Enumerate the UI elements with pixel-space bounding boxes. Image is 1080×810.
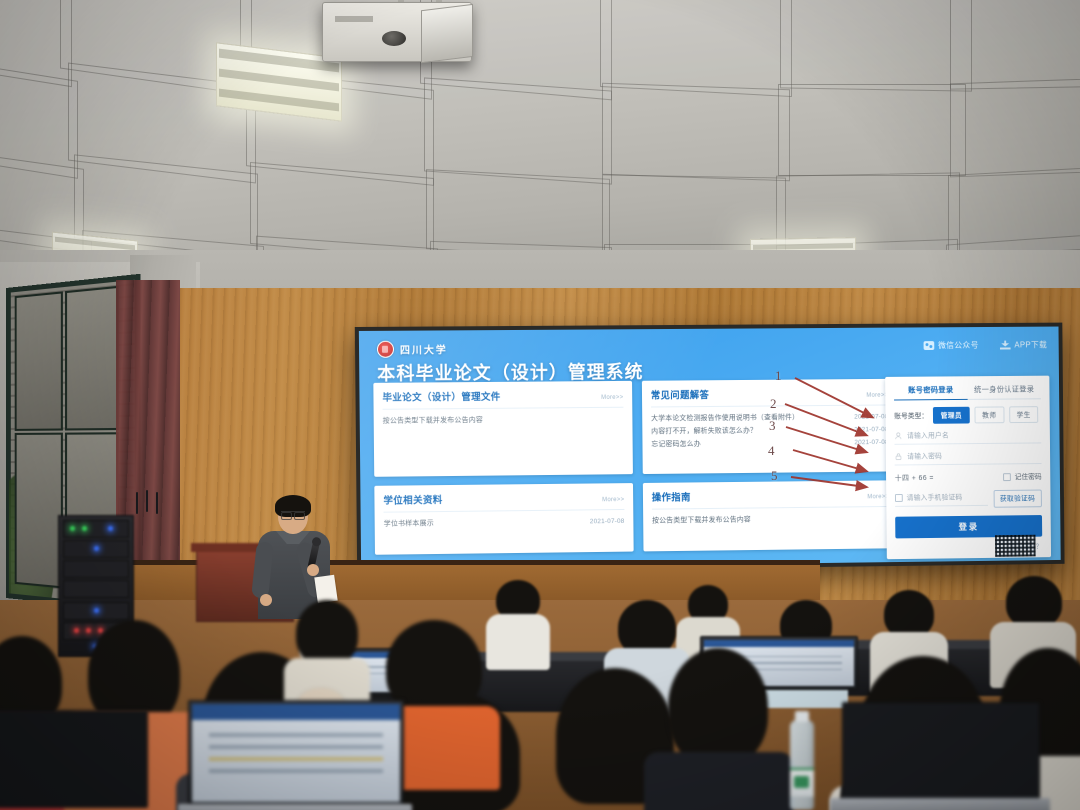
account-type-row: 账号类型： 管理员 教师 学生 (894, 406, 1041, 424)
card-row-date: 2021-07-08 (590, 517, 625, 524)
login-button[interactable]: 登录 (895, 515, 1042, 538)
card-row-text[interactable]: 按公告类型下载并发布公告内容 (652, 511, 889, 528)
system-title: 本科毕业论文（设计）管理系统 (377, 358, 644, 386)
card-user-guide[interactable]: 操作指南 More>> 按公告类型下载并发布公告内容 (643, 480, 899, 551)
username-placeholder: 请输入用户名 (907, 431, 949, 441)
card-faq[interactable]: 常见问题解答 More>> 大学本论文检测报告作使用说明书（查看附件） 2021… (642, 379, 898, 474)
get-code-button[interactable]: 获取验证码 (993, 490, 1042, 508)
scu-thesis-system-page: 四川大学 本科毕业论文（设计）管理系统 微信公众号 APP下载 (359, 327, 1061, 569)
card-row-text: 忘记密码怎么办 (651, 438, 701, 448)
user-icon (894, 432, 902, 440)
tab-password-login[interactable]: 账号密码登录 (894, 384, 968, 400)
content-cards: 毕业论文（设计）管理文件 More>> 按公告类型下载并发布公告内容 学位相关资… (373, 379, 898, 555)
username-input[interactable]: 请输入用户名 (894, 430, 1041, 445)
wechat-link-label: 微信公众号 (938, 340, 979, 351)
card-row-date: 2021-07-08 (854, 426, 888, 433)
list-item[interactable]: 内容打不开，解析失败该怎么办？ 2021-07-08 (651, 422, 888, 437)
remember-label: 记住密码 (1015, 472, 1042, 482)
paper-handout (314, 575, 337, 604)
qr-code-icon (995, 535, 1036, 557)
sms-placeholder: 请输入手机验证码 (907, 492, 963, 502)
university-name: 四川大学 (400, 341, 448, 356)
antenna (136, 492, 138, 514)
card-more-link[interactable]: More>> (867, 494, 889, 500)
card-row-text: 内容打不开，解析失败该怎么办？ (651, 425, 757, 436)
password-input[interactable]: 请输入密码 (895, 450, 1042, 465)
card-more-link[interactable]: More>> (601, 395, 623, 401)
card-title: 操作指南 (652, 489, 691, 503)
lock-icon (895, 453, 903, 461)
projection-screen: 四川大学 本科毕业论文（设计）管理系统 微信公众号 APP下载 (355, 323, 1065, 573)
account-type-student[interactable]: 学生 (1009, 406, 1039, 423)
forgot-password-link[interactable]: 忘记密码？ (895, 541, 1042, 553)
account-type-teacher[interactable]: 教师 (974, 406, 1004, 423)
remember-password-toggle[interactable]: 记住密码 (1003, 472, 1042, 482)
tab-sso-login[interactable]: 统一身份认证登录 (967, 384, 1040, 400)
card-row-date: 2021-07-08 (854, 413, 888, 420)
water-bottle (790, 720, 814, 810)
captcha-row: 十四 + 66 = 记住密码 (895, 472, 1042, 483)
sms-code-input[interactable]: 请输入手机验证码 (895, 492, 988, 507)
list-item[interactable]: 大学本论文检测报告作使用说明书（查看附件） 2021-07-08 (651, 409, 888, 424)
wechat-icon (924, 341, 935, 350)
lecture-hall-photo: 四川大学 本科毕业论文（设计）管理系统 微信公众号 APP下载 (0, 0, 1080, 810)
login-tabs: 账号密码登录 统一身份认证登录 (894, 384, 1041, 401)
download-icon (1000, 341, 1011, 350)
card-more-link[interactable]: More>> (866, 393, 888, 399)
sms-row: 请输入手机验证码 获取验证码 (895, 490, 1042, 509)
list-item[interactable]: 学位书样本展示 2021-07-08 (384, 514, 625, 530)
password-placeholder: 请输入密码 (907, 451, 942, 461)
list-item[interactable]: 忘记密码怎么办 2021-07-08 (651, 435, 888, 450)
site-branding: 四川大学 本科毕业论文（设计）管理系统 (377, 339, 644, 386)
app-download-link[interactable]: APP下载 (1000, 339, 1047, 350)
antenna (146, 490, 148, 512)
login-panel: 账号密码登录 统一身份认证登录 账号类型： 管理员 教师 学生 请输入用户名 (885, 376, 1051, 560)
card-row-text[interactable]: 按公告类型下载并发布公告内容 (383, 412, 624, 428)
captcha-question: 十四 + 66 = (895, 473, 934, 483)
card-degree-materials[interactable]: 学位相关资料 More>> 学位书样本展示 2021-07-08 (374, 483, 633, 555)
antenna (156, 492, 158, 514)
card-row-date: 2021-07-08 (854, 438, 888, 445)
account-type-label: 账号类型： (894, 411, 928, 421)
phone-icon (895, 494, 903, 502)
card-row-text: 学位书样本展示 (384, 518, 434, 529)
card-title: 常见问题解答 (651, 387, 709, 401)
scu-emblem-icon (377, 341, 394, 358)
account-type-admin[interactable]: 管理员 (933, 407, 970, 424)
glasses-icon (281, 511, 305, 518)
ceiling-projector (322, 2, 472, 62)
card-title: 学位相关资料 (383, 492, 442, 507)
card-thesis-files[interactable]: 毕业论文（设计）管理文件 More>> 按公告类型下载并发布公告内容 (373, 381, 633, 477)
wechat-link[interactable]: 微信公众号 (924, 340, 979, 351)
top-links: 微信公众号 APP下载 (924, 339, 1048, 351)
card-title: 毕业论文（设计）管理文件 (382, 389, 500, 404)
app-download-label: APP下载 (1014, 339, 1047, 350)
checkbox-icon (1003, 473, 1011, 481)
card-row-text: 大学本论文检测报告作使用说明书（查看附件） (651, 412, 799, 423)
card-more-link[interactable]: More>> (602, 497, 624, 503)
